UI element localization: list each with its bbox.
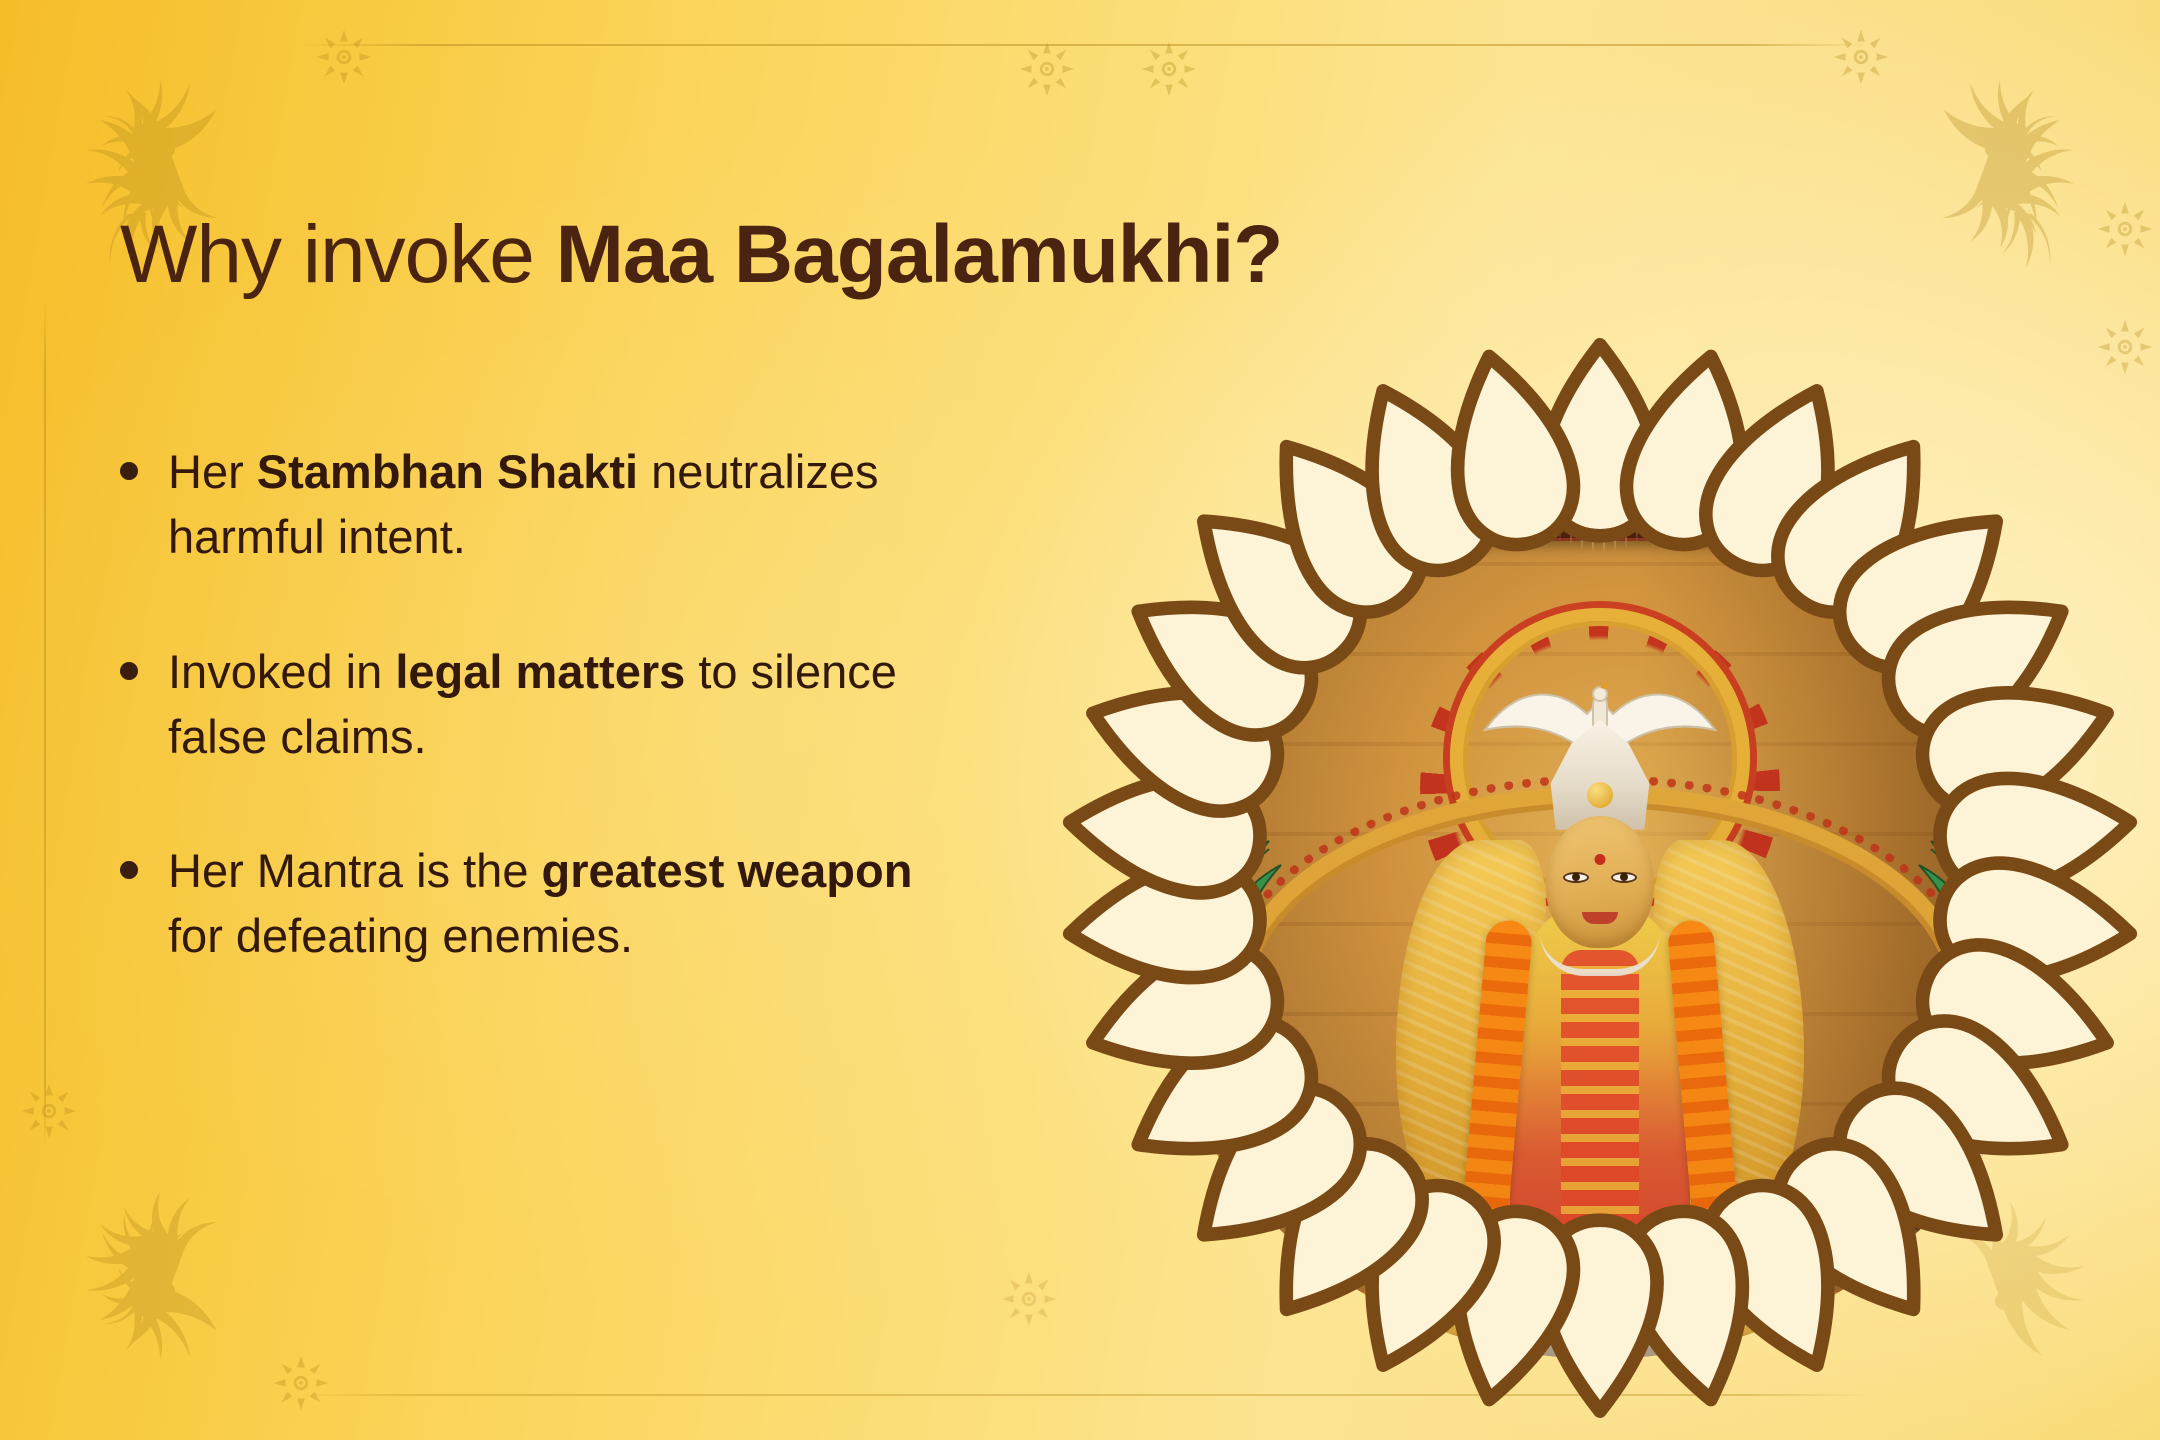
bullet-text: Invoked in legal matters to silence fals… [168, 640, 958, 770]
sun-motif-icon [1140, 40, 1198, 98]
lotus-mandala-frame-icon [980, 258, 2160, 1440]
page-title: Why invoke Maa Bagalamukhi? [120, 212, 1282, 298]
bullet-seg: for defeating enemies. [168, 909, 633, 962]
bullet-seg-bold: legal matters [395, 645, 685, 698]
list-item: Her Stambhan Shakti neutralizes harmful … [120, 440, 1000, 570]
sun-motif-icon [1832, 28, 1890, 86]
text-column: Why invoke Maa Bagalamukhi? Her Stambhan… [0, 0, 1010, 1440]
poster-canvas: जिह्वां ह्लीं ॐ स्वाहा। [0, 0, 2160, 1440]
list-item: Her Mantra is the greatest weapon for de… [120, 839, 1000, 969]
bullet-seg: Invoked in [168, 645, 395, 698]
deity-photo-panel: जिह्वां ह्लीं ॐ स्वाहा। [980, 258, 2160, 1440]
bullet-seg-bold: greatest weapon [542, 844, 913, 897]
bullet-seg-bold: Stambhan Shakti [257, 445, 638, 498]
bullet-seg: Her Mantra is the [168, 844, 542, 897]
bullet-dot-icon [120, 462, 138, 480]
benefits-list: Her Stambhan Shakti neutralizes harmful … [120, 440, 1000, 969]
list-item: Invoked in legal matters to silence fals… [120, 640, 1000, 770]
title-bold: Maa Bagalamukhi? [556, 209, 1283, 300]
bullet-dot-icon [120, 861, 138, 879]
bullet-seg: Her [168, 445, 257, 498]
sun-motif-icon [2096, 200, 2154, 258]
bullet-text: Her Mantra is the greatest weapon for de… [168, 839, 958, 969]
bullet-dot-icon [120, 662, 138, 680]
sun-motif-icon [1018, 40, 1076, 98]
bullet-text: Her Stambhan Shakti neutralizes harmful … [168, 440, 958, 570]
title-regular: Why invoke [120, 209, 556, 300]
